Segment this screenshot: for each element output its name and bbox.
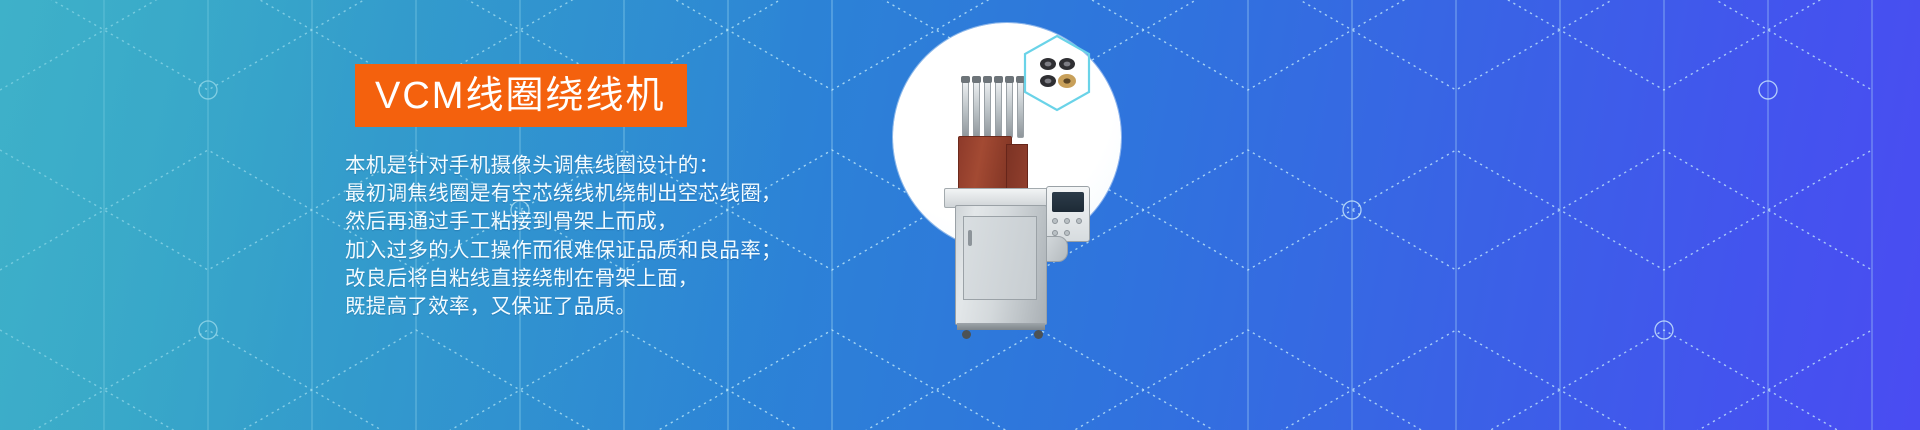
description-line-4: 加入过多的人工操作而很难保证品质和良品率；: [345, 237, 905, 265]
description-line-6: 既提高了效率，又保证了品质。: [345, 293, 905, 321]
description-line-3: 然后再通过手工粘接到骨架上而成，: [345, 208, 905, 236]
coil-samples-hexagon-badge: [1022, 34, 1092, 112]
banner-description: 本机是针对手机摄像头调焦线圈设计的： 最初调焦线圈是有空芯绕线机绕制出空芯线圈，…: [345, 152, 905, 321]
page-title: VCM线圈绕线机: [375, 77, 665, 115]
banner-title-box: VCM线圈绕线机: [355, 64, 687, 127]
description-line-1: 本机是针对手机摄像头调焦线圈设计的：: [345, 152, 905, 180]
product-photo-machine: [900, 40, 1130, 340]
description-line-2: 最初调焦线圈是有空芯绕线机绕制出空芯线圈，: [345, 180, 905, 208]
description-line-5: 改良后将自粘线直接绕制在骨架上面，: [345, 265, 905, 293]
product-banner: VCM线圈绕线机 本机是针对手机摄像头调焦线圈设计的： 最初调焦线圈是有空芯绕线…: [0, 0, 1920, 430]
